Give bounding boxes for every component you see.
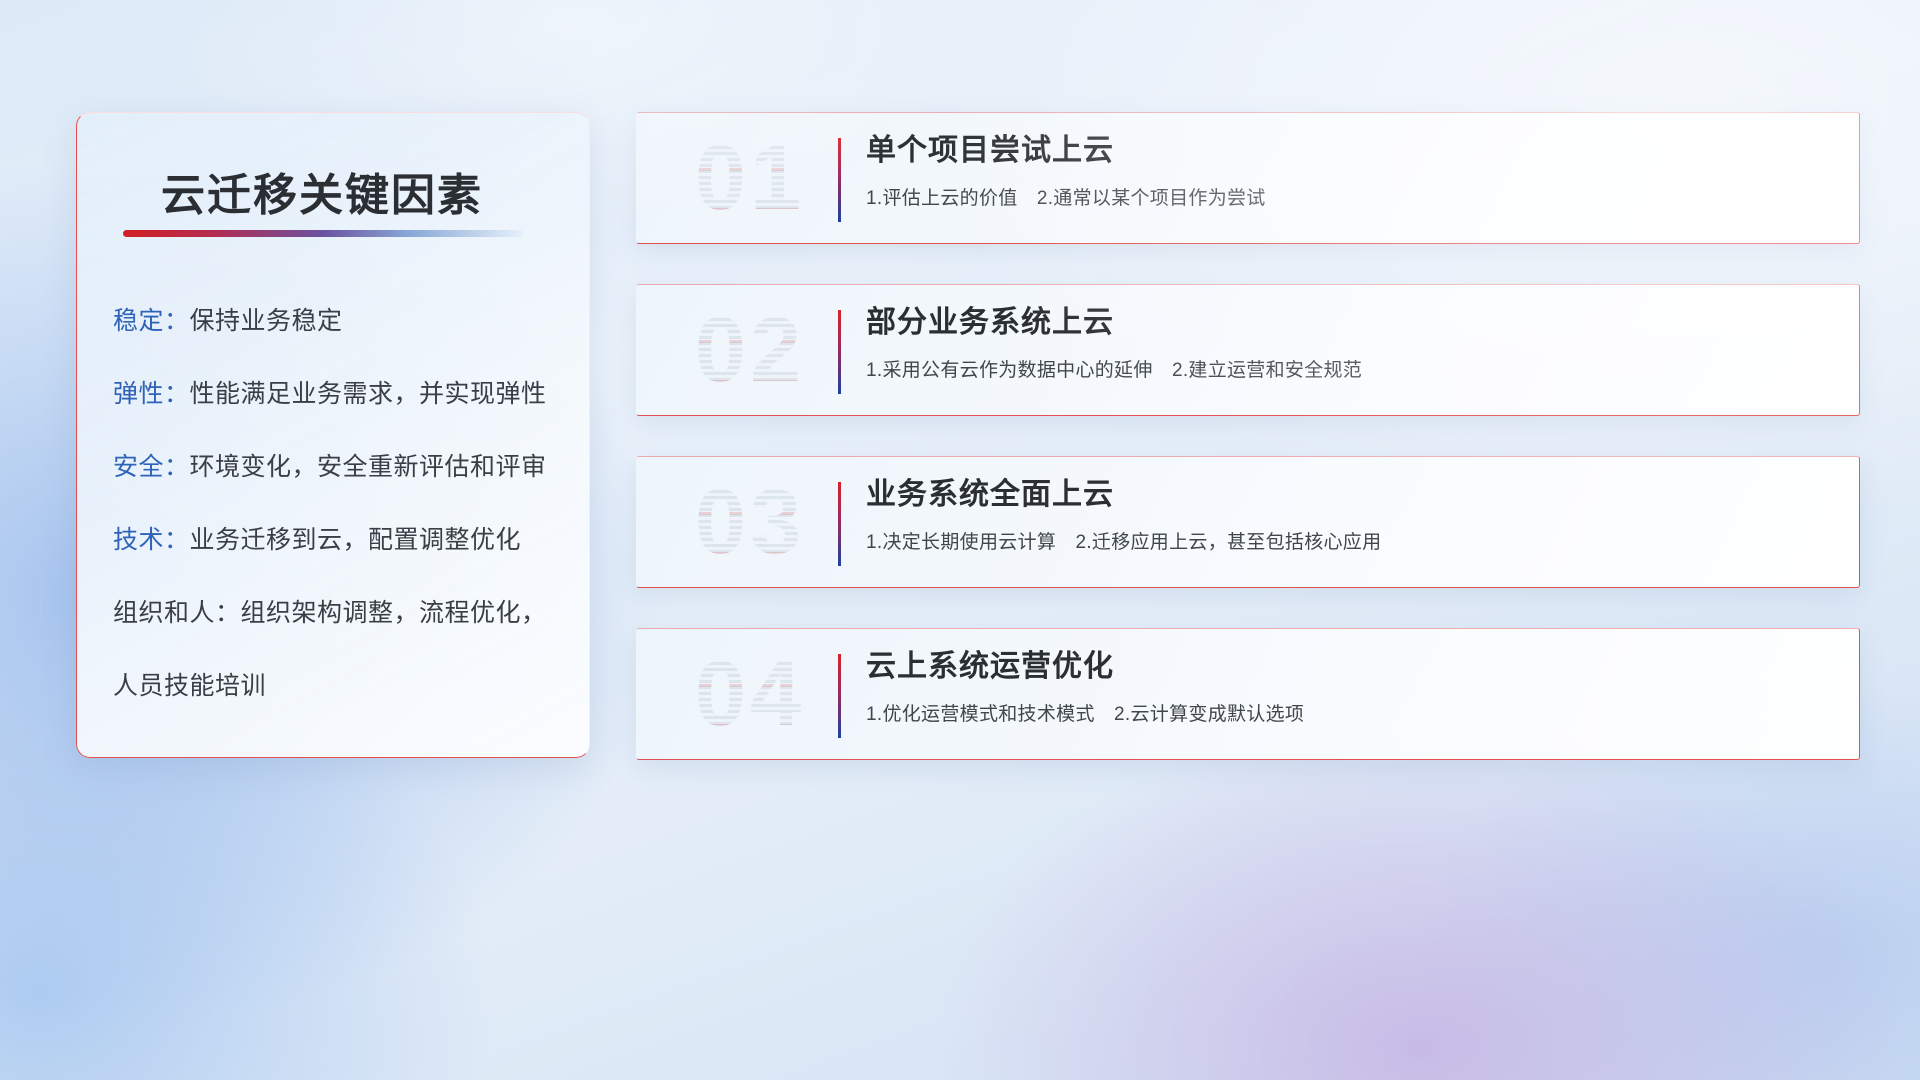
stage-subtitle: 1.评估上云的价值 2.通常以某个项目作为尝试 <box>866 183 1840 210</box>
stage-title: 部分业务系统上云 <box>866 306 1840 341</box>
stage-card-04[interactable]: 04 04 云上系统运营优化 1.优化运营模式和技术模式 2.云计算变成默认选项 <box>636 628 1860 760</box>
slide-root: 云迁移关键因素 稳定：保持业务稳定 弹性：性能满足业务需求，并实现弹性 安全：环… <box>0 0 1920 1080</box>
stage-divider <box>838 138 841 222</box>
stage-body: 单个项目尝试上云 1.评估上云的价值 2.通常以某个项目作为尝试 <box>866 134 1840 210</box>
stage-number: 01 <box>660 122 840 234</box>
factor-text: 性能满足业务需求，并实现弹性 <box>190 380 547 408</box>
factor-text: 业务迁移到云，配置调整优化 <box>190 526 522 554</box>
stage-number: 04 <box>660 638 840 750</box>
stage-subtitle: 1.优化运营模式和技术模式 2.云计算变成默认选项 <box>866 699 1840 726</box>
key-factors-list: 稳定：保持业务稳定 弹性：性能满足业务需求，并实现弹性 安全：环境变化，安全重新… <box>113 309 563 699</box>
list-item: 技术：业务迁移到云，配置调整优化 <box>113 528 563 553</box>
list-item: 稳定：保持业务稳定 <box>113 309 563 334</box>
factor-text: 组织架构调整，流程优化， <box>241 599 547 627</box>
stage-divider <box>838 310 841 394</box>
migration-stages-list: 01 01 单个项目尝试上云 1.评估上云的价值 2.通常以某个项目作为尝试 0… <box>636 112 1860 760</box>
stage-divider <box>838 654 841 738</box>
stage-card-02[interactable]: 02 02 部分业务系统上云 1.采用公有云作为数据中心的延伸 2.建立运营和安… <box>636 284 1860 416</box>
stage-number: 03 <box>660 466 840 578</box>
factor-label: 技术： <box>113 526 190 554</box>
list-item: 弹性：性能满足业务需求，并实现弹性 <box>113 382 563 407</box>
factor-label: 稳定： <box>113 307 190 335</box>
list-item: 组织和人：组织架构调整，流程优化， <box>113 601 563 626</box>
stage-title: 单个项目尝试上云 <box>866 134 1840 169</box>
stage-card-03[interactable]: 03 03 业务系统全面上云 1.决定长期使用云计算 2.迁移应用上云，甚至包括… <box>636 456 1860 588</box>
stage-subtitle: 1.决定长期使用云计算 2.迁移应用上云，甚至包括核心应用 <box>866 527 1840 554</box>
list-item: 安全：环境变化，安全重新评估和评审 <box>113 455 563 480</box>
stage-body: 业务系统全面上云 1.决定长期使用云计算 2.迁移应用上云，甚至包括核心应用 <box>866 478 1840 554</box>
factor-text: 保持业务稳定 <box>190 307 343 335</box>
factor-label: 弹性： <box>113 380 190 408</box>
stage-subtitle: 1.采用公有云作为数据中心的延伸 2.建立运营和安全规范 <box>866 355 1840 382</box>
factor-label: 组织和人： <box>113 599 241 627</box>
factor-text: 人员技能培训 <box>113 672 266 700</box>
stage-body: 部分业务系统上云 1.采用公有云作为数据中心的延伸 2.建立运营和安全规范 <box>866 306 1840 382</box>
stage-body: 云上系统运营优化 1.优化运营模式和技术模式 2.云计算变成默认选项 <box>866 650 1840 726</box>
list-item: 人员技能培训 <box>113 674 563 699</box>
page-title: 云迁移关键因素 <box>161 159 483 223</box>
stage-card-01[interactable]: 01 01 单个项目尝试上云 1.评估上云的价值 2.通常以某个项目作为尝试 <box>636 112 1860 244</box>
stage-number: 02 <box>660 294 840 406</box>
key-factors-card: 云迁移关键因素 稳定：保持业务稳定 弹性：性能满足业务需求，并实现弹性 安全：环… <box>76 112 590 758</box>
stage-divider <box>838 482 841 566</box>
stage-title: 业务系统全面上云 <box>866 478 1840 513</box>
title-underline <box>123 230 523 237</box>
stage-title: 云上系统运营优化 <box>866 650 1840 685</box>
factor-label: 安全： <box>113 453 190 481</box>
factor-text: 环境变化，安全重新评估和评审 <box>190 453 547 481</box>
